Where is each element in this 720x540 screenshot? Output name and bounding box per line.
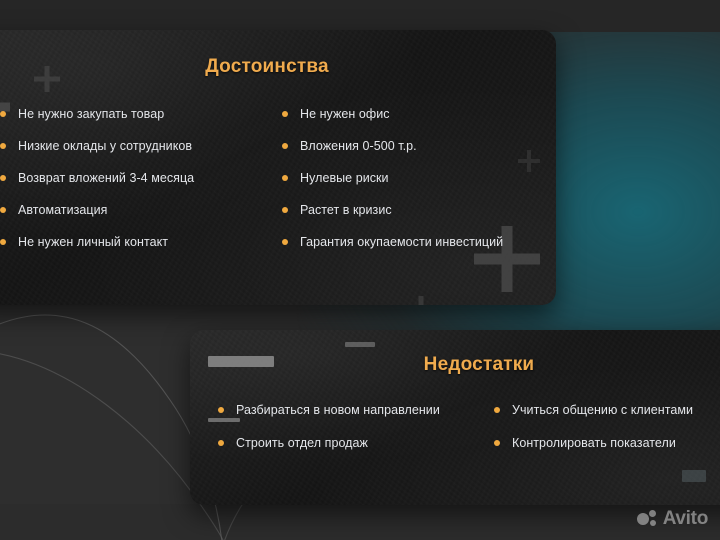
bullet-dot-icon	[282, 239, 288, 245]
avito-logo-icon	[637, 509, 658, 529]
list-item-label: Вложения 0-500 т.р.	[300, 139, 417, 153]
advantages-title: Достоинства	[0, 56, 556, 78]
advantages-column-left: Не нужно закупать товар Низкие оклады у …	[0, 106, 248, 250]
list-item-label: Строить отдел продаж	[236, 436, 368, 450]
list-item: Автоматизация	[0, 202, 248, 218]
bullet-dot-icon	[0, 175, 6, 181]
list-item: Строить отдел продаж	[218, 435, 470, 451]
list-item: Нулевые риски	[282, 170, 530, 186]
avito-watermark-label: Avito	[663, 508, 708, 530]
list-item-label: Низкие оклады у сотрудников	[18, 139, 192, 153]
list-item: Не нужен офис	[282, 106, 530, 122]
background-top-band	[0, 0, 720, 32]
bullet-dot-icon	[0, 143, 6, 149]
list-item-label: Не нужно закупать товар	[18, 107, 164, 121]
list-item: Не нужен личный контакт	[0, 234, 248, 250]
disadvantages-title: Недостатки	[196, 354, 720, 376]
bullet-dot-icon	[494, 440, 500, 446]
slide-canvas: Достоинства Не нужно закупать товар Низк…	[0, 0, 720, 540]
bullet-dot-icon	[0, 111, 6, 117]
bullet-dot-icon	[0, 207, 6, 213]
avito-watermark: Avito	[637, 508, 708, 530]
bullet-dot-icon	[0, 239, 6, 245]
list-item: Гарантия окупаемости инвестиций	[282, 234, 530, 250]
list-item-label: Нулевые риски	[300, 171, 389, 185]
bullet-dot-icon	[282, 207, 288, 213]
list-item: Разбираться в новом направлении	[218, 402, 470, 418]
list-item: Возврат вложений 3-4 месяца	[0, 170, 248, 186]
bullet-dot-icon	[282, 143, 288, 149]
disadvantages-column-left: Разбираться в новом направлении Строить …	[218, 402, 470, 451]
list-item: Вложения 0-500 т.р.	[282, 138, 530, 154]
bullet-dot-icon	[218, 440, 224, 446]
list-item: Не нужно закупать товар	[0, 106, 248, 122]
list-item-label: Не нужен личный контакт	[18, 235, 168, 249]
disadvantages-columns: Разбираться в новом направлении Строить …	[218, 402, 720, 451]
list-item-label: Автоматизация	[18, 203, 107, 217]
list-item-label: Учиться общению с клиентами	[512, 403, 693, 417]
advantages-column-right: Не нужен офис Вложения 0-500 т.р. Нулевы…	[282, 106, 530, 250]
list-item: Низкие оклады у сотрудников	[0, 138, 248, 154]
bar-decoration	[345, 342, 375, 347]
bullet-dot-icon	[282, 111, 288, 117]
list-item-label: Гарантия окупаемости инвестиций	[300, 235, 503, 249]
advantages-columns: Не нужно закупать товар Низкие оклады у …	[0, 106, 540, 250]
list-item-label: Разбираться в новом направлении	[236, 403, 440, 417]
advantages-card: Достоинства Не нужно закупать товар Низк…	[0, 30, 556, 305]
bullet-dot-icon	[494, 407, 500, 413]
bullet-dot-icon	[218, 407, 224, 413]
plus-decoration-icon	[408, 296, 434, 305]
list-item-label: Контролировать показатели	[512, 436, 676, 450]
list-item-label: Не нужен офис	[300, 107, 390, 121]
list-item-label: Возврат вложений 3-4 месяца	[18, 171, 194, 185]
disadvantages-card: Недостатки Разбираться в новом направлен…	[190, 330, 720, 505]
list-item: Контролировать показатели	[494, 435, 720, 451]
bar-decoration	[682, 470, 706, 482]
list-item: Растет в кризис	[282, 202, 530, 218]
list-item: Учиться общению с клиентами	[494, 402, 720, 418]
bullet-dot-icon	[282, 175, 288, 181]
list-item-label: Растет в кризис	[300, 203, 392, 217]
disadvantages-column-right: Учиться общению с клиентами Контролирова…	[494, 402, 720, 451]
